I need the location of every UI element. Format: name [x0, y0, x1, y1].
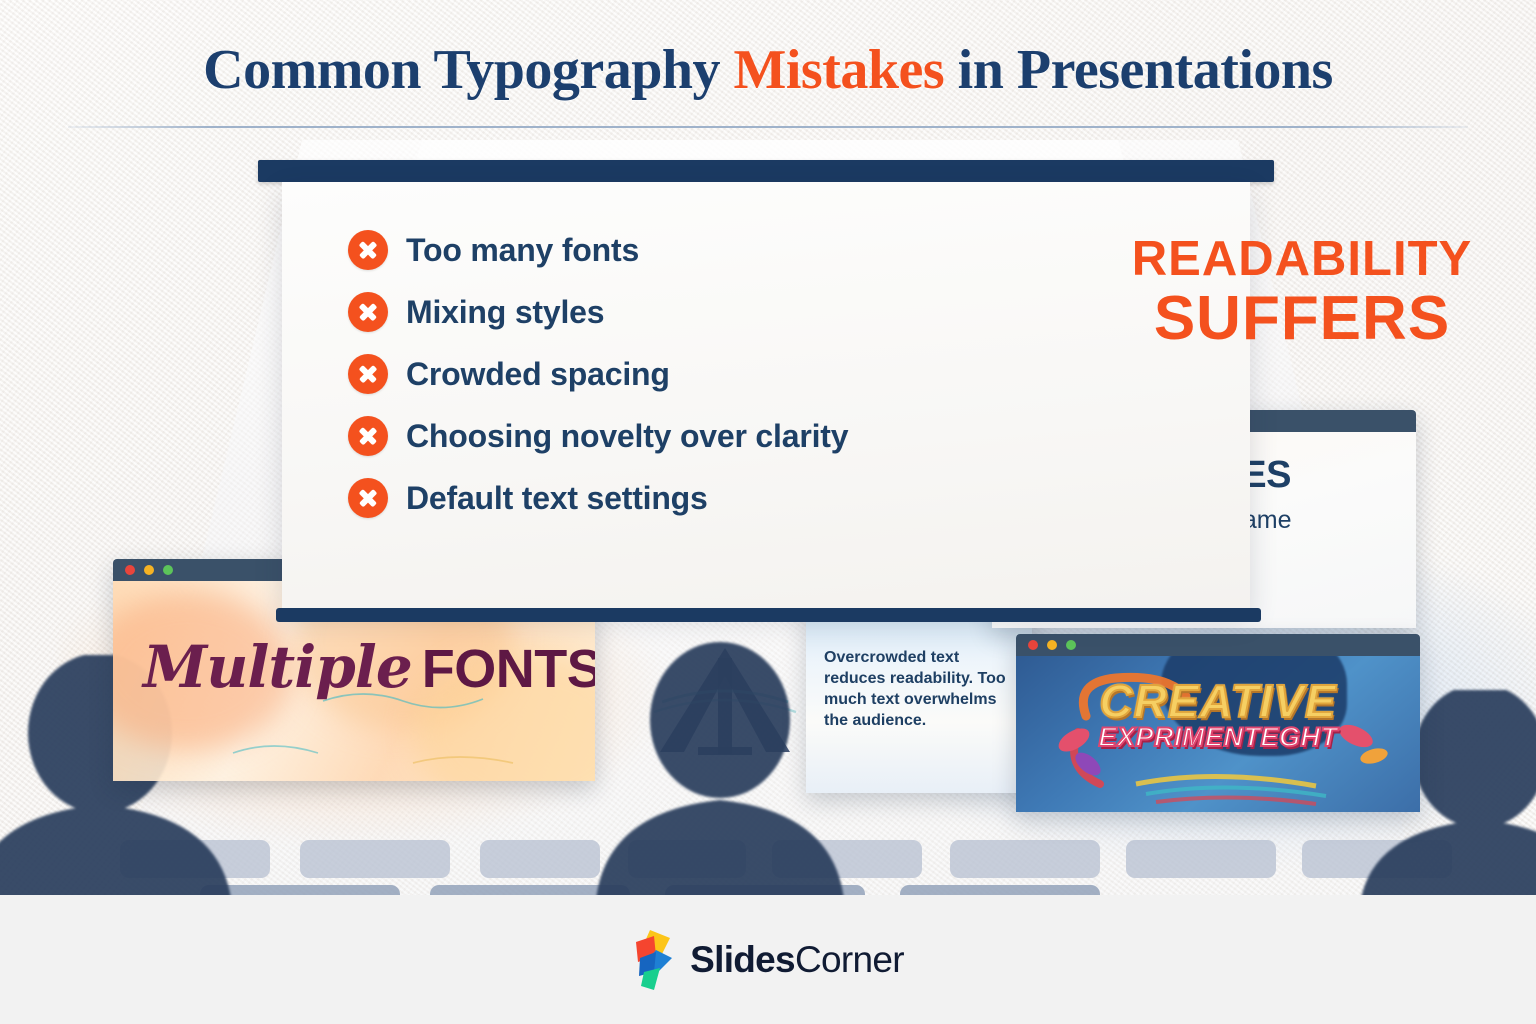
screen-surface: Too many fonts Mixing styles Crowded spa… — [282, 182, 1250, 610]
list-item: Choosing novelty over clarity — [348, 416, 1008, 456]
brand-name-bold: Slides — [690, 939, 795, 980]
creative-slide-text: CREATIVE EXPRIMENTEGHT — [1016, 678, 1420, 753]
title-accent: Mistakes — [734, 39, 945, 101]
readability-line2: SUFFERS — [1112, 286, 1492, 352]
list-item: Crowded spacing — [348, 354, 1008, 394]
brand-name-thin: Corner — [795, 939, 904, 980]
fonts-slide-text: MultipleFONTS — [143, 633, 573, 701]
screen-top-bar — [258, 160, 1274, 182]
fonts-bold-word: FONTS — [422, 639, 595, 699]
page-header: Common Typography Mistakes in Presentati… — [0, 0, 1536, 140]
seat — [900, 885, 1100, 895]
bullet-label: Too many fonts — [406, 232, 639, 269]
bullet-label: Choosing novelty over clarity — [406, 418, 848, 455]
brand-lockup[interactable]: SlidesCorner — [632, 928, 904, 992]
page-title: Common Typography Mistakes in Presentati… — [0, 38, 1536, 102]
list-item: Default text settings — [348, 478, 1008, 518]
seat — [1126, 840, 1276, 878]
readability-callout: READABILITY SUFFERS — [1112, 234, 1492, 352]
creative-line1: CREATIVE — [1016, 678, 1420, 724]
bullet-label: Default text settings — [406, 480, 708, 517]
list-item: Mixing styles — [348, 292, 1008, 332]
close-dot-icon[interactable] — [125, 565, 135, 575]
window-content: Overcrowded text reduces readability. To… — [806, 607, 1032, 793]
window-creative-experiment[interactable]: CREATIVE EXPRIMENTEGHT — [1016, 634, 1420, 812]
title-part1: Common Typography — [203, 39, 733, 101]
title-part2: in Presentations — [944, 39, 1333, 101]
minimize-dot-icon[interactable] — [144, 565, 154, 575]
bullet-label: Crowded spacing — [406, 356, 670, 393]
x-circle-icon — [348, 292, 388, 332]
fonts-script-word: Multiple — [143, 633, 412, 701]
creative-line2: EXPRIMENTEGHT — [1016, 722, 1420, 753]
x-circle-icon — [348, 478, 388, 518]
page-footer: SlidesCorner — [0, 895, 1536, 1024]
readability-line1: READABILITY — [1112, 234, 1492, 286]
list-item: Too many fonts — [348, 230, 1008, 270]
seat — [300, 840, 450, 878]
x-circle-icon — [348, 230, 388, 270]
mistakes-bullet-list: Too many fonts Mixing styles Crowded spa… — [348, 230, 1008, 540]
seat — [950, 840, 1100, 878]
screen-bottom-bar — [276, 608, 1261, 622]
window-content: CREATIVE EXPRIMENTEGHT — [1016, 656, 1420, 812]
bullet-label: Mixing styles — [406, 294, 604, 331]
seat — [480, 840, 600, 878]
minimize-dot-icon[interactable] — [1047, 640, 1057, 650]
close-dot-icon[interactable] — [1028, 640, 1038, 650]
overcrowded-body-text: Overcrowded text reduces readability. To… — [824, 647, 1016, 731]
x-circle-icon — [348, 354, 388, 394]
maximize-dot-icon[interactable] — [1066, 640, 1076, 650]
title-divider — [68, 126, 1468, 128]
slidescorner-logo-icon — [632, 928, 674, 992]
main-projection-screen: Too many fonts Mixing styles Crowded spa… — [258, 160, 1274, 622]
maximize-dot-icon[interactable] — [163, 565, 173, 575]
x-circle-icon — [348, 416, 388, 456]
window-titlebar[interactable] — [1016, 634, 1420, 656]
brand-name: SlidesCorner — [690, 939, 904, 981]
